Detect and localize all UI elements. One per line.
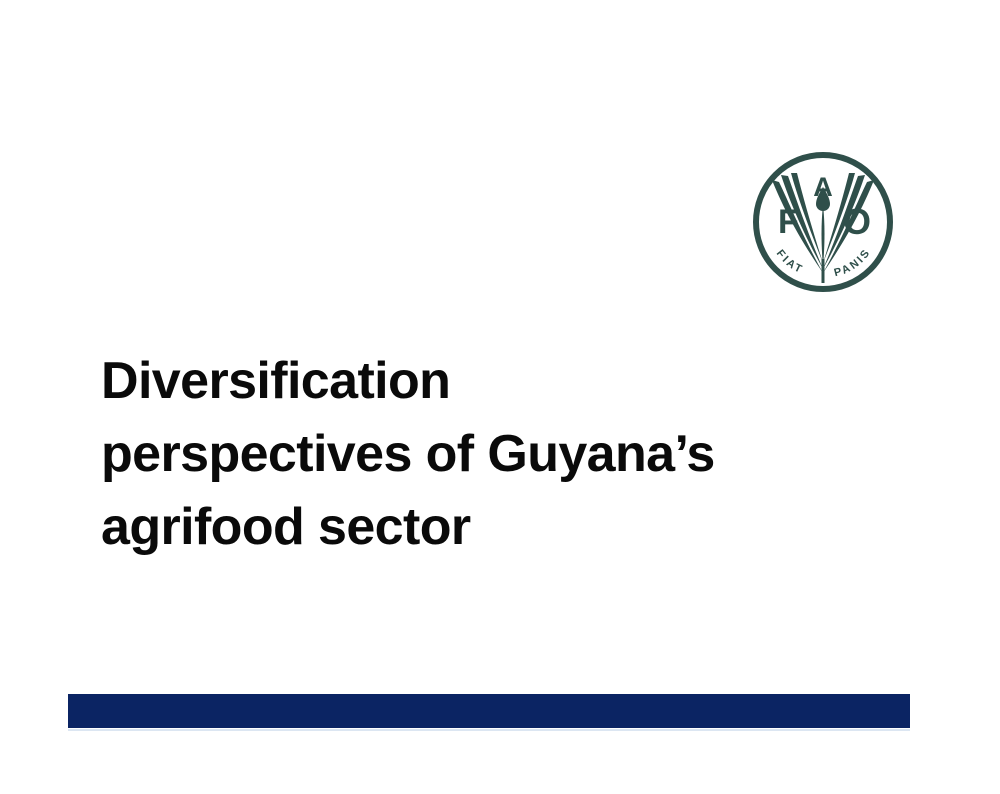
bottom-accent-bar [68,694,910,728]
page-title: Diversification perspectives of Guyana’s… [101,345,901,564]
fao-logo: F A O FIAT PANIS [751,151,895,293]
fao-letter-o: O [843,201,871,242]
title-slide: F A O FIAT PANIS Diversification perspec… [0,0,1000,794]
fao-letter-a: A [813,172,833,202]
fao-letter-f: F [778,203,799,241]
page-title-line-2: perspectives of Guyana’s [101,418,901,491]
page-title-line-1: Diversification [101,345,901,418]
bottom-hairline [68,729,910,731]
page-title-line-3: agrifood sector [101,491,901,564]
